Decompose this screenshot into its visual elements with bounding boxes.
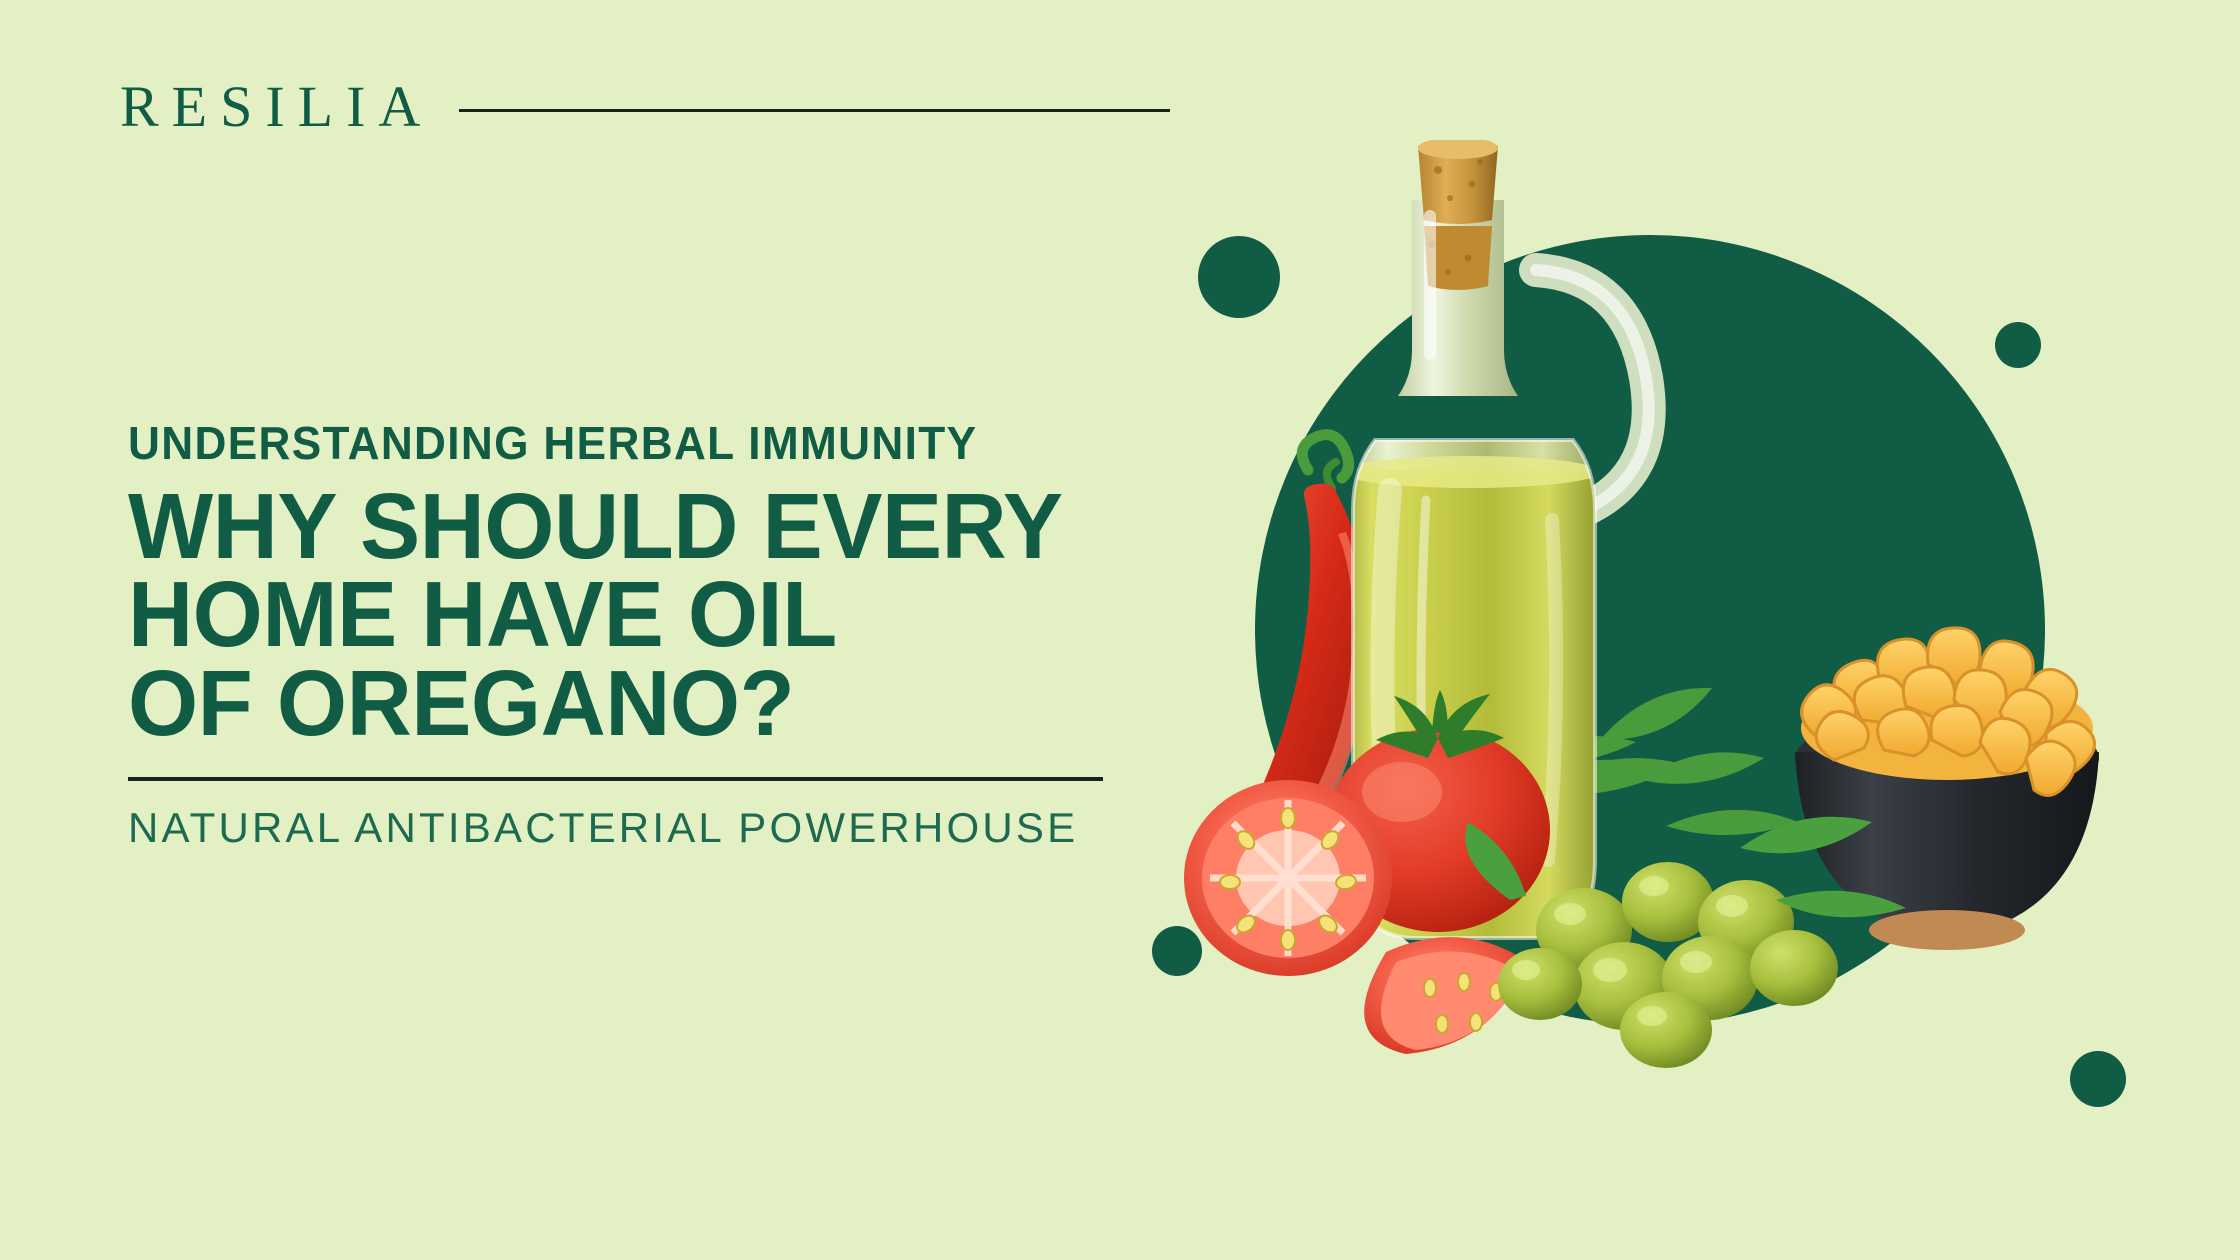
headline-line-3: OF OREGANO? — [128, 659, 1108, 747]
hero-artwork — [1180, 140, 2180, 1150]
subtitle-text: NATURAL ANTIBACTERIAL POWERHOUSE — [128, 807, 1138, 849]
headline-block: UNDERSTANDING HERBAL IMMUNITY WHY SHOULD… — [128, 420, 1138, 849]
brand-logo-text: RESILIA — [120, 78, 433, 136]
halved-tomato — [1184, 780, 1392, 976]
headline-line-2: HOME HAVE OIL — [128, 570, 1108, 658]
headline-line-1: WHY SHOULD EVERY — [128, 482, 1108, 570]
eyebrow-text: UNDERSTANDING HERBAL IMMUNITY — [128, 420, 1098, 466]
brand-lockup: RESILIA — [120, 78, 1170, 136]
logo-divider-rule — [459, 109, 1170, 112]
promo-banner: RESILIA UNDERSTANDING HERBAL IMMUNITY WH… — [0, 0, 2240, 1260]
page-title: WHY SHOULD EVERY HOME HAVE OIL OF OREGAN… — [128, 482, 1138, 747]
subtitle-divider-rule — [128, 777, 1103, 781]
